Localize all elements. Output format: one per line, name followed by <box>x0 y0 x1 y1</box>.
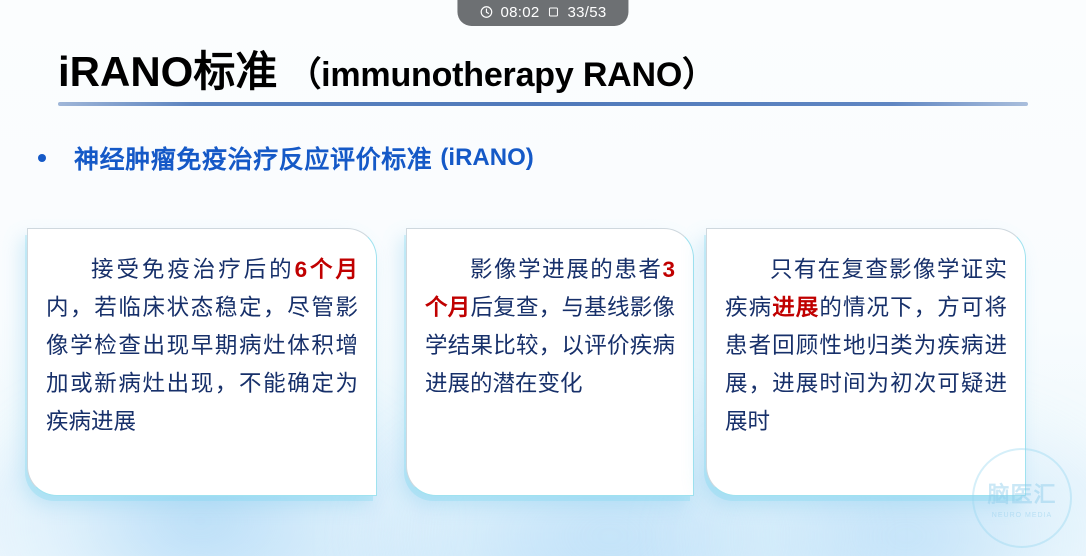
page-icon <box>547 5 561 19</box>
status-page-counter: 33/53 <box>568 5 607 20</box>
status-badge: 08:02 33/53 <box>457 0 628 26</box>
card-group: 接受免疫治疗后的6个月内，若临床状态稳定，尽管影像学检查出现早期病灶体积增加或新… <box>0 0 1086 556</box>
text-run: 影像学进展的患者 <box>470 257 662 282</box>
text-run: 内，若临床状态稳定，尽管影像学检查出现早期病灶体积增加或新病灶出现，不能确定为疾… <box>46 295 358 434</box>
content-card-2: 影像学进展的患者3个月后复查，与基线影像学结果比较，以评价疾病进展的潜在变化 <box>406 228 694 496</box>
status-time: 08:02 <box>500 5 539 20</box>
card-2-text: 影像学进展的患者3个月后复查，与基线影像学结果比较，以评价疾病进展的潜在变化 <box>425 251 675 403</box>
content-card-3: 只有在复查影像学证实疾病进展的情况下，方可将患者回顾性地归类为疾病进展，进展时间… <box>706 228 1026 496</box>
card-1-text: 接受免疫治疗后的6个月内，若临床状态稳定，尽管影像学检查出现早期病灶体积增加或新… <box>46 251 358 441</box>
clock-icon <box>479 5 493 19</box>
text-run: 接受免疫治疗后的 <box>91 257 295 282</box>
slide-canvas: 08:02 33/53 iRANO标准 （immunotherapy RANO）… <box>0 0 1086 556</box>
highlighted-term: 6个月 <box>295 257 358 282</box>
card-3-text: 只有在复查影像学证实疾病进展的情况下，方可将患者回顾性地归类为疾病进展，进展时间… <box>725 251 1007 441</box>
content-card-1: 接受免疫治疗后的6个月内，若临床状态稳定，尽管影像学检查出现早期病灶体积增加或新… <box>27 228 377 496</box>
highlighted-term: 进展 <box>772 295 819 320</box>
